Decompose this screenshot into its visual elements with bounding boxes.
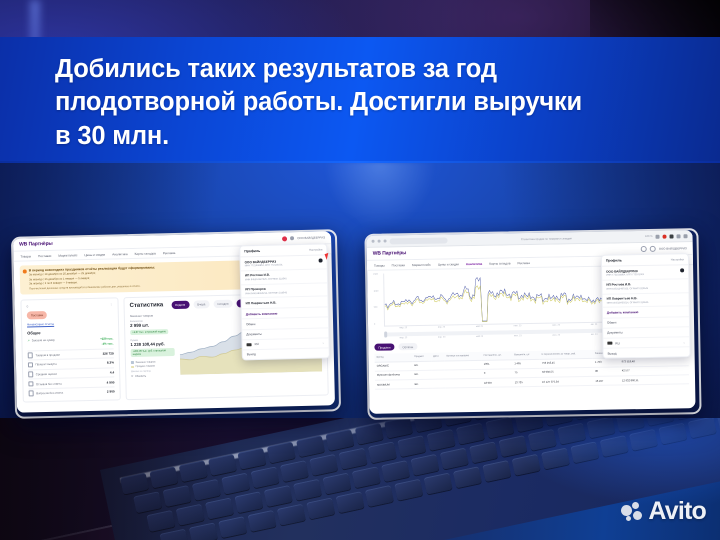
legend-label: Заказано товаров [136,361,156,364]
browser-tab-title: Статистика продаж по товарам и складам [521,237,572,241]
stats-tab-0[interactable]: Неделя [171,301,189,309]
nav-item-0[interactable]: Товары [20,254,31,258]
nav-item-3[interactable]: Цены и скидки [438,262,459,266]
keyboard-key [293,479,322,501]
back-icon[interactable] [372,240,375,243]
extensions-icon[interactable] [655,234,659,238]
metric2-badge: +280,05 тыс. руб. к прошлой неделе [131,348,175,358]
warning-icon [23,269,27,273]
bell-icon[interactable] [641,246,647,252]
poster-canvas: Добились таких результатов за год плодот… [0,0,720,540]
right-dropdown-settings-link[interactable]: Настройки [671,258,684,261]
y-tick: 0 [374,324,384,326]
summary-card: 0 ⋮ Поставки Финансовые отчёты Общее ↗ З… [20,298,120,403]
summary-row-label: Товаров в продаже [35,353,60,358]
legend-link[interactable]: Обновить [135,375,146,378]
right-screenshot[interactable]: Статистика продаж по товарам и складам 1… [366,230,695,414]
account-list[interactable]: ООО ВАЙЛДБЕРРИЗИНН 7721546864, КПП 77210… [240,255,327,309]
account-name: ИП Лаврентьев Н.В. [246,299,324,305]
x-tick: авг. 23 [591,324,598,326]
profile-avatar-icon[interactable] [676,234,680,238]
right-tab-0[interactable]: Продажи [374,344,394,352]
forward-icon[interactable] [378,240,381,243]
table-cell: 80 [593,367,620,377]
summary-row-value: 4.4 [110,370,114,374]
account-item-3[interactable]: ИП Лаврентьев Н.В. [241,297,327,310]
x-tick: июл. 23 [552,324,560,326]
right-tabs[interactable]: ПродажиОстатки [374,343,417,351]
nav-item-5[interactable]: Карты складов [489,261,510,265]
keyboard-key [267,441,296,463]
account-item-0[interactable]: ООО ВАЙЛДБЕРРИЗИНН 7721546864, КПП 77210… [602,265,688,280]
table-cell: 18 987 [482,378,513,388]
dropdown-title: Профиль [244,249,260,253]
laptop-shadow [0,418,230,540]
keyboard-key [306,497,335,519]
summary-row-label: Процент выкупа [35,362,56,366]
keyboard-key [251,466,280,488]
right-account-list[interactable]: ООО ВАЙЛДБЕРРИЗИНН 7721546864, КПП 77210… [602,265,689,308]
legend-label: Продано товаров [136,365,155,368]
nav-item-2[interactable]: Маркетплейс [58,253,77,257]
right-logout-item[interactable]: Выход [603,346,689,358]
supplies-button[interactable]: Поставки [27,311,48,319]
table-cell: 12 932 860,51 [620,375,689,385]
zoom-level[interactable]: 100 % [645,235,652,238]
financial-reports-link[interactable]: Финансовые отчёты [27,320,113,326]
blocker-icon[interactable] [662,234,666,238]
summary-row: Вопросов без ответа2 900 [29,386,115,398]
left-brand-logo[interactable]: WB Партнёры [19,241,53,248]
nav-item-3[interactable]: Цены и скидки [84,252,105,256]
x-tick: мар. 23 [400,337,408,339]
reload-icon[interactable] [384,240,387,243]
legend-item-1: Продано товаров [131,364,175,368]
x-tick: · [215,372,216,374]
summary-row-label: Средняя оценка [36,372,57,376]
nav-item-4[interactable]: Аналитика [466,261,482,265]
x-tick: апр. 23 [438,336,445,338]
keyboard-key [237,448,266,470]
account-gear-icon[interactable] [319,258,323,262]
x-tick: май 23 [476,336,483,338]
nav-item-2[interactable]: Маркетплейс [412,262,431,266]
address-bar[interactable] [390,237,448,244]
summary-row-value: 8.3% [107,361,114,365]
left-profile-dropdown[interactable]: Профиль Настройки ООО ВАЙЛДБЕРРИЗИНН 772… [239,243,330,360]
right-dropdown-title: Профиль [606,258,622,262]
table-cell [432,379,445,388]
table-cell: MAXIMUM [375,380,413,390]
chart-legend: Заказано товаровПродано товаров [131,360,175,368]
summary-row-value: 2 900 [107,390,115,394]
x-tick: июн. 23 [514,335,522,337]
y-tick: 1500 [373,274,383,276]
stats-tab-1[interactable]: Вчера [193,301,209,309]
keyboard-key [322,473,351,495]
delta-up: +229 тыс. [100,336,113,340]
nav-item-6[interactable]: Реклама [517,261,529,265]
table-cell [431,361,444,370]
trend-up-icon: ↗ [27,338,29,342]
statistics-title: Статистика [130,302,164,309]
delta-row-label: Заказов на сумму [32,337,55,342]
table-cell: 75 [512,368,540,378]
row-icon [28,362,34,368]
summary-row-value: 4 900 [107,380,115,384]
row-icon [28,372,34,378]
right-profile-dropdown[interactable]: Профиль Настройки ООО ВАЙЛДБЕРРИЗИНН 772… [601,253,691,359]
dropdown-items[interactable]: ОбменДокументы [242,317,328,339]
avito-wordmark: Avito [648,497,706,526]
summary-row-value: 326 729 [102,351,113,355]
keyboard-key [296,435,325,457]
keyboard-key [248,510,277,532]
keyboard-key [355,423,384,445]
right-flag-icon [607,341,612,344]
table-cell: 1 763 [593,358,620,368]
language-label: RU [255,342,259,346]
y-tick: 500 [374,307,384,309]
nav-item-5[interactable]: Карты складов [134,251,155,256]
keyboard-key [336,491,365,513]
keyboard-key [339,448,368,470]
metric1-label: Заказано товаров [130,313,174,318]
account-item-1[interactable]: ИП Ростова И.В.ИНН 645312487925, ОГРНИП … [602,279,688,294]
right-chevron-down-icon: ⌄ [683,340,686,344]
summary-rows: Товаров в продаже326 729Процент выкупа8.… [28,348,115,398]
nav-item-1[interactable]: Поставки [38,253,51,257]
x-tick: мар. 23 [399,327,407,329]
nav-item-1[interactable]: Поставки [392,263,405,267]
table-cell: 16 247 [593,376,620,386]
summary-menu-icon[interactable]: ⋮ [110,303,113,307]
keyboard-key [234,491,263,513]
account-sub: ИНН 7721546864, КПП 772101001 [245,263,323,268]
x-tick: май 23 [476,326,483,328]
right-language-label: RU [615,341,619,345]
notifications-icon[interactable] [282,236,287,241]
headline-line-1: Добились таких результатов за год [55,53,675,86]
logout-item[interactable]: Выход [243,347,329,359]
x-tick: июл. 23 [552,334,560,336]
keyboard-key [325,429,354,451]
account-item-2[interactable]: ИП Лаврентьев Н.В.ИНН 644518450214, ОГРН… [603,293,689,308]
table-cell: Шт. [412,361,431,371]
keyboard-key [309,454,338,476]
table-cell [445,378,483,388]
nav-item-0[interactable]: Товары [374,263,385,267]
help-icon[interactable] [650,246,656,252]
x-tick: · [310,369,311,371]
account-sub: ИНН 644518450214, ОГРНИП 319645 [607,300,685,304]
dropdown-settings-link[interactable]: Настройки [309,248,322,251]
row-icon [28,353,34,359]
x-tick: апр. 23 [438,326,445,328]
table-cell [431,370,444,379]
right-dropdown-items[interactable]: ОбменДокументы [603,316,689,338]
nav-item-4[interactable]: Аналитика [112,252,127,256]
right-brand-logo[interactable]: WB Партнёры [373,250,407,257]
avito-watermark: Avito [621,497,706,526]
legend-note: Данные за период [131,370,175,373]
headline-line-2: плодотворной работы. Достигли выручки [55,86,675,119]
legend-swatch [131,361,134,364]
stats-tab-2[interactable]: Сегодня [213,300,232,308]
y-tick: 1000 [373,290,383,292]
account-sub: ИНН 7721546864, КПП 772101001 [606,273,684,277]
range-handle-left[interactable] [384,332,387,338]
metric1-badge: +3,87 тыс. к прошлой неделе [130,329,168,335]
keyboard-key [264,485,293,507]
row-icon [29,391,35,397]
keyboard-key [277,504,306,526]
keyboard-key [352,466,381,488]
keyboard-key [280,460,309,482]
summary-section-title: Общее [27,328,113,335]
table-cell: 13 735 [513,377,541,387]
statistics-metrics: Заказано товаров Количество 2 999 шт. +3… [130,313,176,378]
account-sub: ИНН 645312487925, ОГРНИП 322645 [245,276,323,281]
x-tick: июн. 23 [514,325,522,327]
headline-line-3: в 30 млн. [55,120,675,153]
refresh-icon[interactable]: ⟳ [131,375,133,378]
flag-icon [247,343,252,347]
x-tick: · [286,370,287,372]
table-cell: 1 465 [512,359,540,369]
x-tick: · [192,372,193,374]
metric2-value: 1 238 108,44 руб. [130,341,174,347]
reader-icon[interactable] [669,234,673,238]
right-header-user[interactable]: ООО ВАЙЛДБЕРРИЗ [659,246,687,250]
account-gear-icon[interactable] [680,268,684,272]
summary-row-label: Вопросов без ответа [36,391,63,396]
page-title: Добились таких результатов за год плодот… [55,53,675,153]
table-cell: Шт. [413,379,432,389]
table-cell: Шт. [412,370,431,380]
table-column-2: Дата [431,352,444,361]
row-icon [28,381,34,387]
summary-row-label: Отзывов без ответа [36,381,62,386]
menu-icon[interactable] [683,234,687,238]
x-tick: · [263,370,264,372]
legend-swatch [131,366,134,369]
table-cell: 0 [482,369,513,379]
chevron-down-icon: ⌄ [322,341,325,345]
header-user-label[interactable]: ООО ВАЙЛДБЕРРИЗ [297,235,325,240]
nav-item-6[interactable]: Реклама [163,250,176,254]
x-tick: авг. 23 [591,334,598,336]
avito-logo-icon [621,502,643,522]
gear-icon[interactable] [290,236,294,240]
right-tab-1[interactable]: Остатки [398,343,417,351]
left-screenshot[interactable]: WB Партнёры ООО ВАЙЛДБЕРРИЗ ТоварыПостав… [13,231,335,412]
delta-down: -4% тыс. [100,341,113,345]
metric1-value: 2 999 шт. [130,322,174,328]
table-cell: 10 127 075,34 [540,376,593,386]
x-tick: · [239,371,240,373]
account-sub: ИНН 645312487925, ОГРНИП 322645 [606,286,684,290]
table-body: ORGANICШт.19011 465756 253,451 763973 51… [375,356,689,389]
